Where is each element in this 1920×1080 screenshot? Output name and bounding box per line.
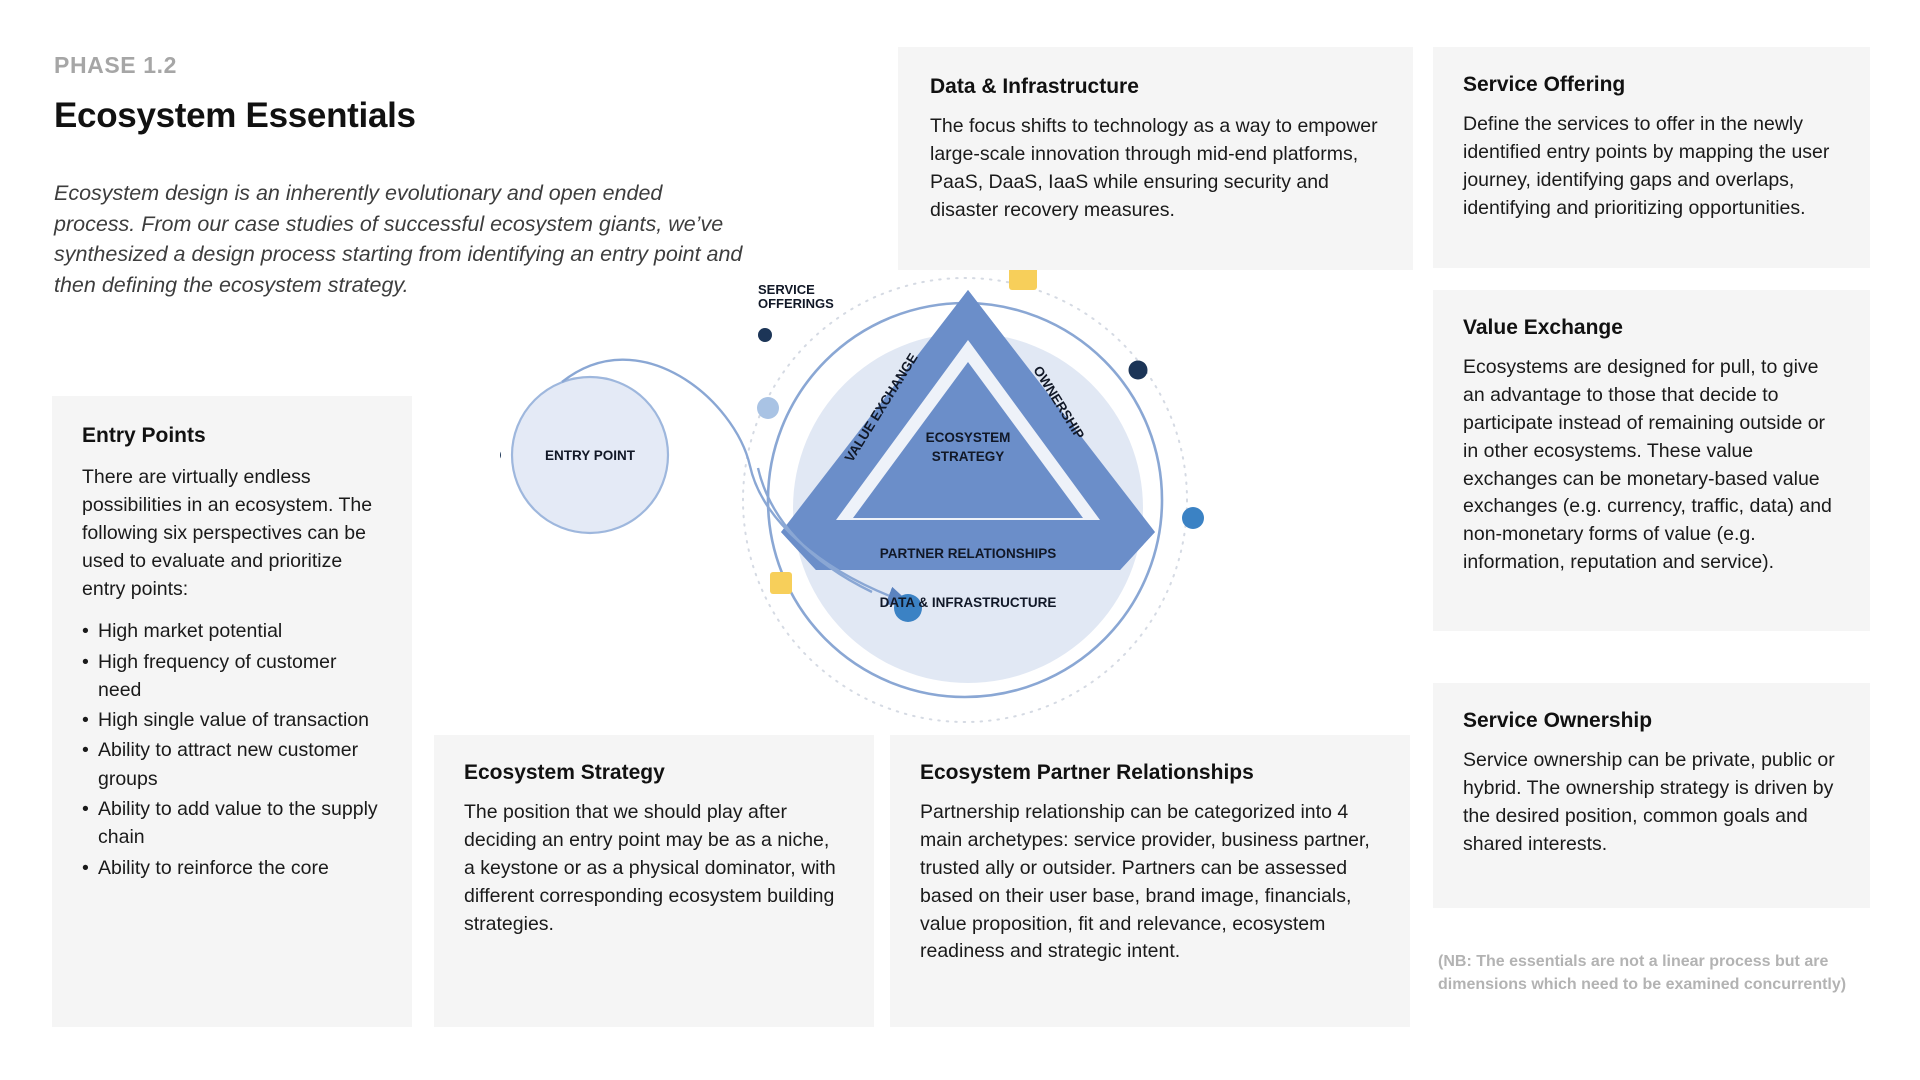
list-item: High frequency of customer need [82,648,382,705]
card-title-ecosystem-strategy: Ecosystem Strategy [464,761,844,785]
nb-note: (NB: The essentials are not a linear pro… [1438,950,1858,996]
partner-relationships-label: PARTNER RELATIONSHIPS [880,546,1057,561]
list-item: Ability to attract new customer groups [82,736,382,793]
service-offerings-label-line1: SERVICE [758,282,815,297]
entry-points-bullet-list: High market potential High frequency of … [82,617,382,881]
service-offerings-marker-dot [758,328,772,342]
yellow-square-marker-top [1009,270,1037,290]
list-item: High single value of transaction [82,706,382,734]
phase-label: PHASE 1.2 [54,52,784,79]
card-body-service-ownership: Service ownership can be private, public… [1463,747,1840,859]
card-service-ownership: Service Ownership Service ownership can … [1433,683,1870,908]
card-value-exchange: Value Exchange Ecosystems are designed f… [1433,290,1870,631]
card-data-infrastructure: Data & Infrastructure The focus shifts t… [898,47,1413,270]
data-infrastructure-label: DATA & INFRASTRUCTURE [880,595,1057,610]
card-title-data-infrastructure: Data & Infrastructure [930,75,1381,99]
card-body-ecosystem-strategy: The position that we should play after d… [464,799,844,938]
card-body-data-infrastructure: The focus shifts to technology as a way … [930,113,1381,225]
list-item: High market potential [82,617,382,645]
card-title-value-exchange: Value Exchange [1463,316,1840,340]
card-body-service-offering: Define the services to offer in the newl… [1463,111,1840,223]
header-block: PHASE 1.2 Ecosystem Essentials Ecosystem… [54,52,784,300]
card-body-value-exchange: Ecosystems are designed for pull, to giv… [1463,354,1840,577]
yellow-square-marker-bottom [770,572,792,594]
slide-canvas: PHASE 1.2 Ecosystem Essentials Ecosystem… [0,0,1920,1080]
card-entry-points: Entry Points There are virtually endless… [52,396,412,1027]
card-title-service-ownership: Service Ownership [1463,709,1840,733]
ownership-marker-dot [1129,361,1148,380]
service-offerings-label-line2: OFFERINGS [758,296,834,311]
core-label-line1: ECOSYSTEM [926,430,1011,445]
ecosystem-diagram: ENTRY POINT SERVICE OFFERINGS VALUE EXCH… [500,270,1400,760]
card-body-partner-relationships: Partnership relationship can be categori… [920,799,1380,966]
list-item: Ability to add value to the supply chain [82,795,382,852]
card-title-partner-relationships: Ecosystem Partner Relationships [920,761,1380,785]
list-item: Ability to reinforce the core [82,854,382,882]
value-exchange-marker-dot [757,397,779,419]
card-ecosystem-strategy: Ecosystem Strategy The position that we … [434,735,874,1027]
card-ecosystem-partner-relationships: Ecosystem Partner Relationships Partners… [890,735,1410,1027]
entry-point-label: ENTRY POINT [545,448,636,463]
partner-relationships-marker-dot [1182,507,1204,529]
card-body-entry-points: There are virtually endless possibilitie… [82,464,382,603]
card-service-offering: Service Offering Define the services to … [1433,47,1870,268]
page-title: Ecosystem Essentials [54,96,784,136]
card-title-entry-points: Entry Points [82,424,382,448]
core-label-line2: STRATEGY [932,449,1005,464]
card-title-service-offering: Service Offering [1463,73,1840,97]
entry-point-dot [500,449,501,461]
